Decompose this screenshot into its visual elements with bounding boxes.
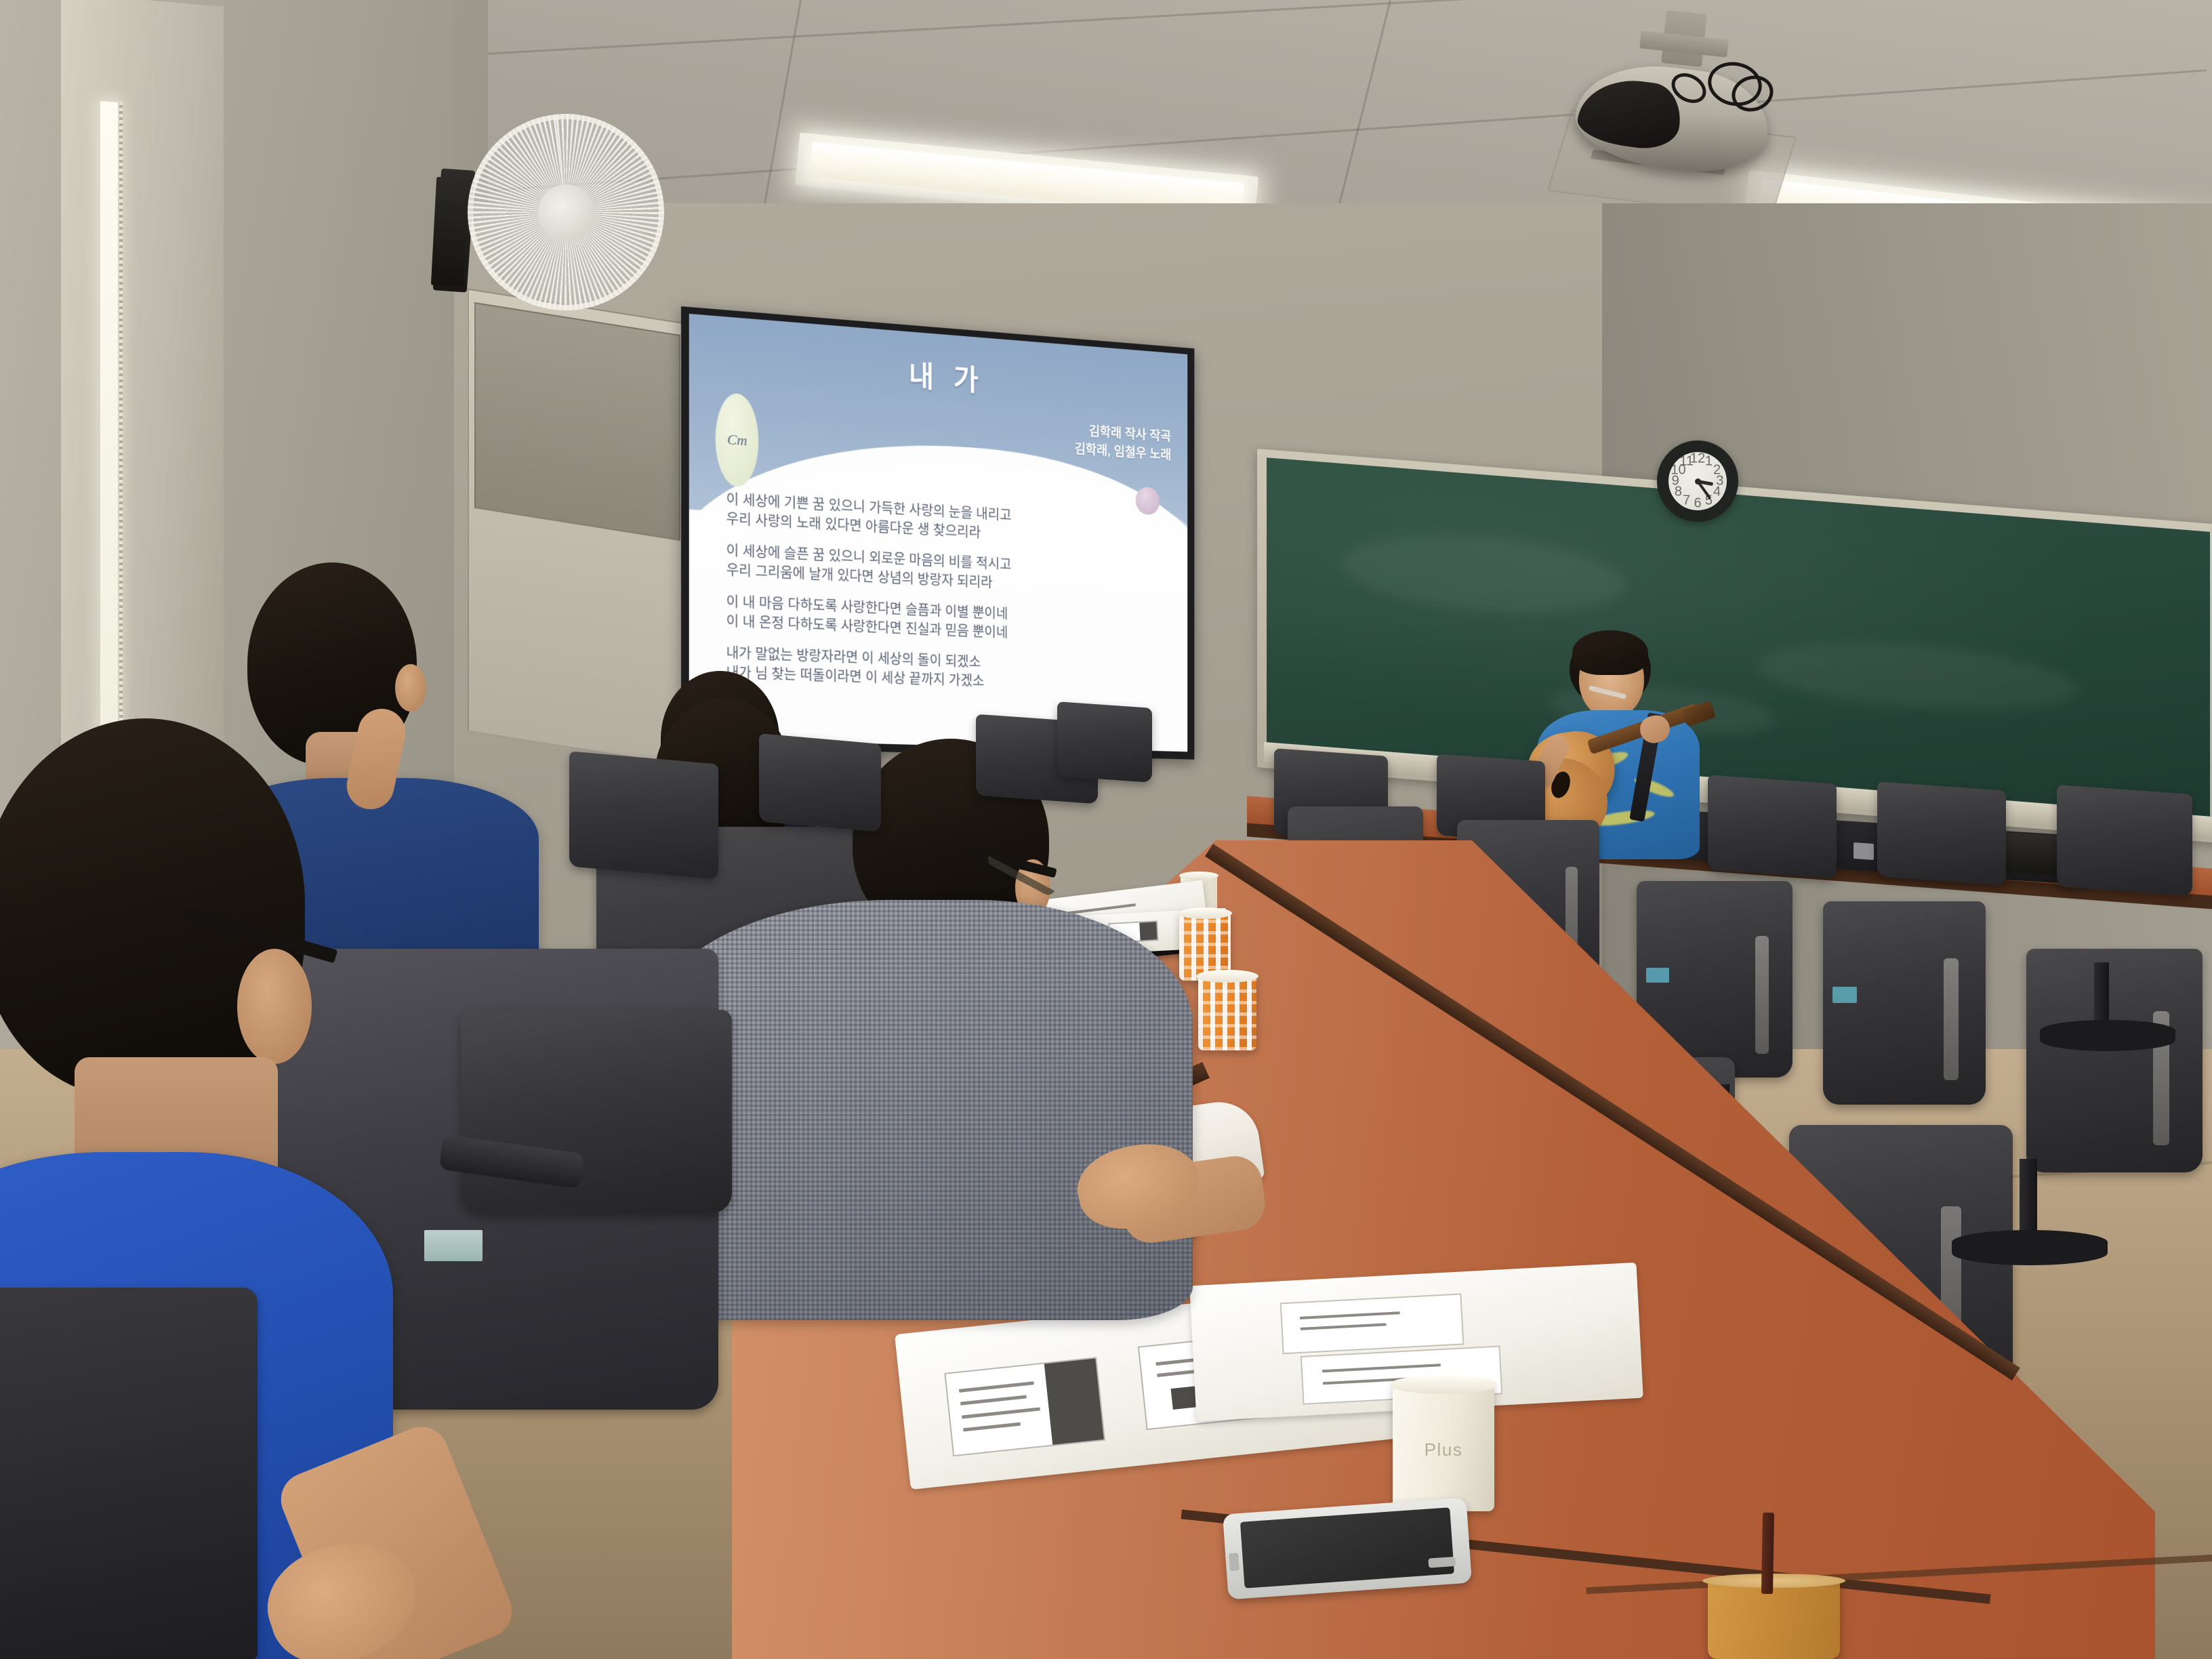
shirt bbox=[651, 900, 1193, 1320]
fan-control-box[interactable] bbox=[431, 177, 469, 287]
clock-number: 7 bbox=[1683, 493, 1690, 508]
clock-number: 11 bbox=[1679, 454, 1694, 470]
chair[interactable] bbox=[2026, 949, 2203, 1172]
clock-center-pin bbox=[1695, 478, 1701, 485]
phone-home-button[interactable] bbox=[1428, 1557, 1456, 1568]
clock-number: 1 bbox=[1705, 454, 1713, 470]
iced-drink-glass[interactable] bbox=[1708, 1579, 1840, 1659]
clock-face: 12 1 2 3 4 5 6 7 8 9 10 11 bbox=[1668, 452, 1727, 510]
slide-badge-text: Cm bbox=[727, 431, 747, 450]
smartphone[interactable] bbox=[1223, 1498, 1472, 1600]
lyric-stanza: 이 세상에 슬픈 꿈 있으니 외로운 마음의 비를 적시고 우리 그리움에 날개… bbox=[726, 541, 1164, 601]
chair-sticker bbox=[1646, 968, 1669, 983]
clock-number: 4 bbox=[1713, 485, 1721, 500]
lyric-stanza: 이 내 마음 다하도록 사랑한다면 슬픔과 이별 뿐이네 이 내 온정 다하도록… bbox=[726, 592, 1164, 649]
chair[interactable] bbox=[569, 751, 718, 879]
gig-bag-buckle bbox=[1853, 842, 1874, 860]
chair[interactable] bbox=[1708, 775, 1837, 878]
chair[interactable] bbox=[2057, 785, 2192, 896]
wall-fan[interactable] bbox=[458, 104, 674, 321]
presenter-hair bbox=[1572, 630, 1648, 675]
ear bbox=[395, 664, 426, 712]
clock-number: 6 bbox=[1694, 495, 1701, 511]
slide-credits: 김학래 작사 작곡 김학래, 임철우 노래 bbox=[1075, 422, 1171, 465]
window-panel-upper bbox=[474, 302, 680, 541]
cup-label: Plus bbox=[1393, 1439, 1494, 1460]
drinking-straw[interactable] bbox=[1761, 1513, 1774, 1594]
chair[interactable] bbox=[461, 1010, 732, 1213]
chair-sticker bbox=[1832, 987, 1857, 1003]
phone-side-button[interactable] bbox=[1229, 1553, 1240, 1571]
phone-screen[interactable] bbox=[1240, 1507, 1454, 1589]
chair[interactable] bbox=[1057, 701, 1152, 783]
chair[interactable] bbox=[1823, 901, 1986, 1105]
window-roller-blind bbox=[61, 0, 230, 794]
chair[interactable] bbox=[759, 733, 881, 832]
seminar-room-photo: Cm 내 가 김학래 작사 작곡 김학래, 임철우 노래 이 세상에 기쁜 꿈 … bbox=[0, 0, 2212, 1659]
slide-thumbnail bbox=[944, 1357, 1105, 1457]
ear bbox=[237, 949, 312, 1064]
slide-thumbnail bbox=[1280, 1293, 1465, 1354]
chair-base bbox=[1952, 1230, 2108, 1265]
white-paper-cup[interactable]: Plus bbox=[1393, 1382, 1494, 1511]
chair[interactable] bbox=[0, 1288, 258, 1659]
chair-base bbox=[2040, 1020, 2175, 1051]
chair[interactable] bbox=[1877, 781, 2006, 885]
orange-paper-cup[interactable] bbox=[1198, 975, 1256, 1050]
window-light-gap bbox=[100, 101, 118, 787]
wall-clock: 12 1 2 3 4 5 6 7 8 9 10 11 bbox=[1657, 441, 1738, 522]
